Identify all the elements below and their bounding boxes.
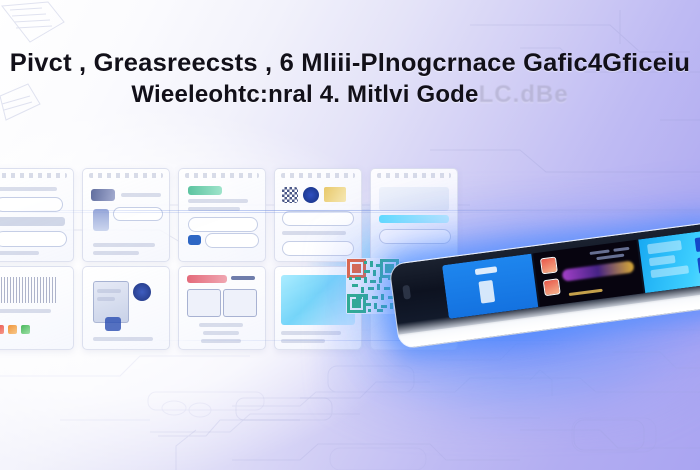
- card-text-line: [97, 297, 115, 301]
- card-pill: [205, 233, 259, 248]
- card-text-line: [93, 251, 139, 255]
- smartphone-mockup: [360, 236, 700, 386]
- card-text-line: [97, 289, 121, 293]
- payment-card: [478, 280, 495, 304]
- card-caption-bars: [281, 173, 355, 178]
- card-chart-tile: [223, 289, 257, 317]
- card-text-line: [93, 337, 153, 341]
- card-text-line: [0, 217, 65, 226]
- screen-panel-media: [533, 240, 643, 307]
- card-r1c3: [178, 168, 266, 262]
- card-text-line: [93, 243, 155, 247]
- card-text-line: [231, 276, 255, 280]
- card-text-line: [0, 251, 39, 255]
- phone-camera: [402, 285, 411, 300]
- media-text-line: [589, 249, 609, 255]
- card-title-accent: [187, 275, 227, 283]
- card-r2c2: [82, 266, 170, 350]
- card-r2c1: [0, 266, 74, 350]
- banner-canvas: Pivct , Greasreecsts , 6 Mliii-Plnogcrna…: [0, 0, 700, 470]
- dashboard-highlight: [695, 236, 700, 252]
- card-caption-bars: [185, 173, 259, 178]
- card-caption-bars: [377, 173, 451, 178]
- card-pill: [0, 231, 67, 247]
- media-light-streak: [562, 260, 635, 281]
- card-pill: [188, 217, 258, 232]
- card-r1c1: [0, 168, 74, 262]
- card-caption-bars: [89, 173, 163, 178]
- dashboard-block: [649, 255, 676, 266]
- app-icon-orange: [8, 325, 17, 334]
- heading-line-2: Wieeleohtc:nral 4. Mitlvi GodeLC.dBe: [0, 80, 700, 110]
- heading-ghost-text: LC.dBe: [479, 81, 569, 108]
- card-r2c3: [178, 266, 266, 350]
- card-accent-badge: [188, 186, 222, 195]
- card-chart-tile: [187, 289, 221, 317]
- card-text-line: [121, 193, 161, 197]
- media-text-line: [613, 247, 629, 252]
- dashboard-block: [650, 265, 689, 278]
- card-text-line: [188, 199, 248, 203]
- card-text-line: [203, 331, 239, 335]
- media-avatar: [540, 256, 558, 274]
- card-text-line: [199, 323, 243, 327]
- card-caption-bars: [0, 173, 67, 178]
- screen-panel-payment: [442, 254, 538, 319]
- card-barcode: [0, 277, 57, 303]
- payment-chip: [475, 266, 498, 275]
- heading-line-2-text: Wieeleohtc:nral 4. Mitlvi Gode: [131, 81, 478, 108]
- app-icon-red: [0, 325, 4, 334]
- media-text-line: [596, 254, 624, 261]
- card-seal-badge: [303, 187, 319, 203]
- card-brand-logo: [91, 189, 115, 201]
- card-emblem: [105, 317, 121, 331]
- card-marker-icon: [188, 235, 201, 245]
- card-qr-badge: [282, 187, 298, 203]
- media-avatar: [543, 278, 561, 296]
- media-text-line: [569, 289, 603, 296]
- card-text-line: [0, 187, 57, 191]
- card-gear-icon: [133, 283, 151, 301]
- screen-panel-dashboard: [638, 227, 700, 293]
- app-icon-green: [21, 325, 30, 334]
- card-text-line: [0, 309, 51, 313]
- card-r1c2: [82, 168, 170, 262]
- page-title: Pivct , Greasreecsts , 6 Mliii-Plnogcrna…: [0, 48, 700, 110]
- dashboard-block: [647, 240, 682, 254]
- heading-line-1: Pivct , Greasreecsts , 6 Mliii-Plnogcrna…: [0, 48, 700, 78]
